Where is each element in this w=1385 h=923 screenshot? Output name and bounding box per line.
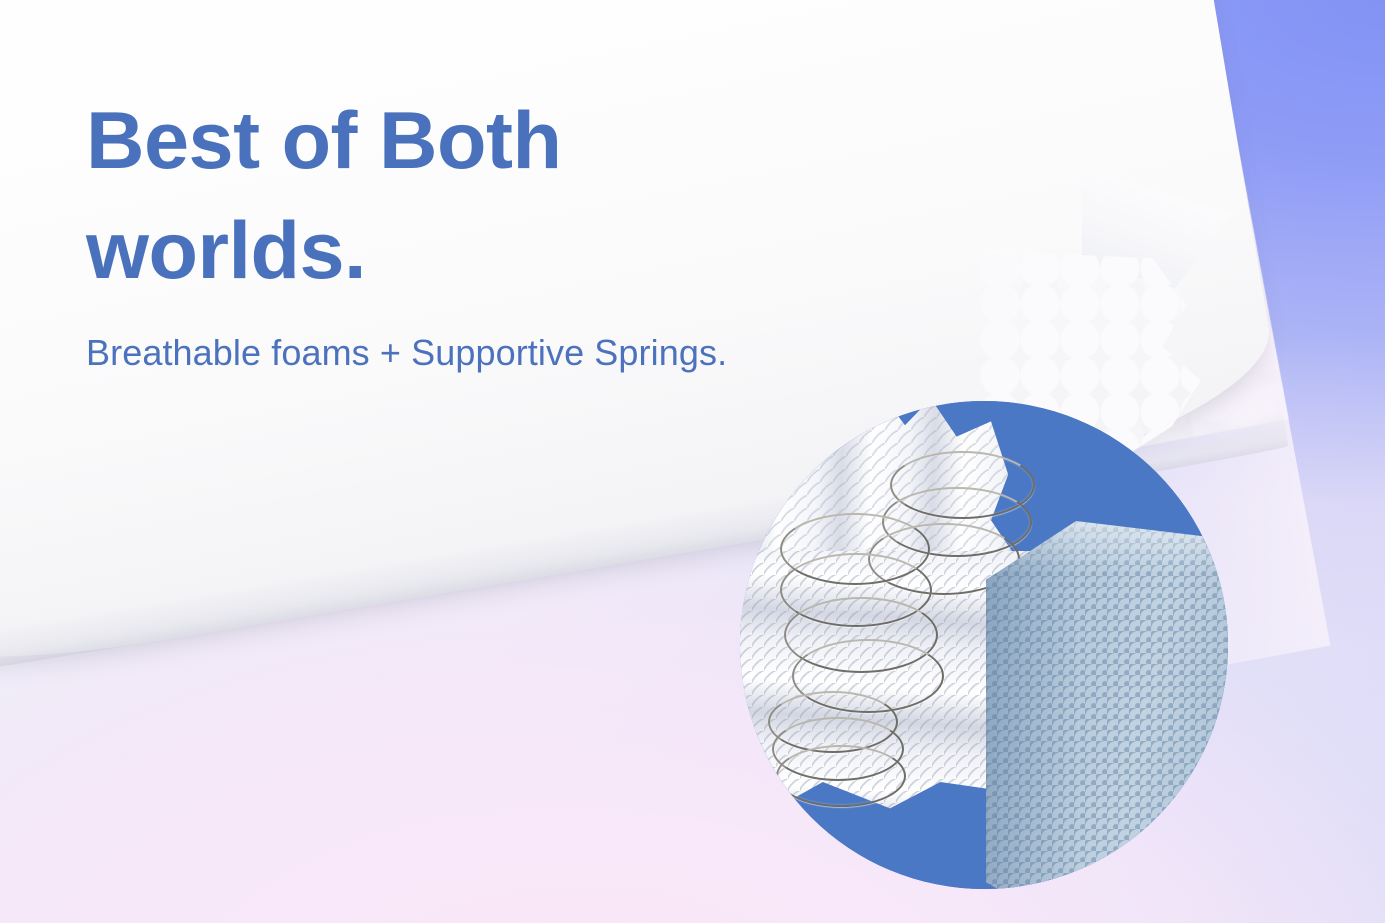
blue-open-cell-foam-block	[986, 521, 1228, 889]
promo-banner: Best of Both worlds. Breathable foams + …	[0, 0, 1385, 923]
headline: Best of Both worlds.	[86, 86, 806, 306]
cutaway-detail-circle	[740, 401, 1228, 889]
foam-block-side-shading	[986, 521, 1080, 889]
subheadline: Breathable foams + Supportive Springs.	[86, 330, 806, 375]
copy-block: Best of Both worlds. Breathable foams + …	[86, 86, 806, 375]
spring-ring	[776, 745, 906, 807]
